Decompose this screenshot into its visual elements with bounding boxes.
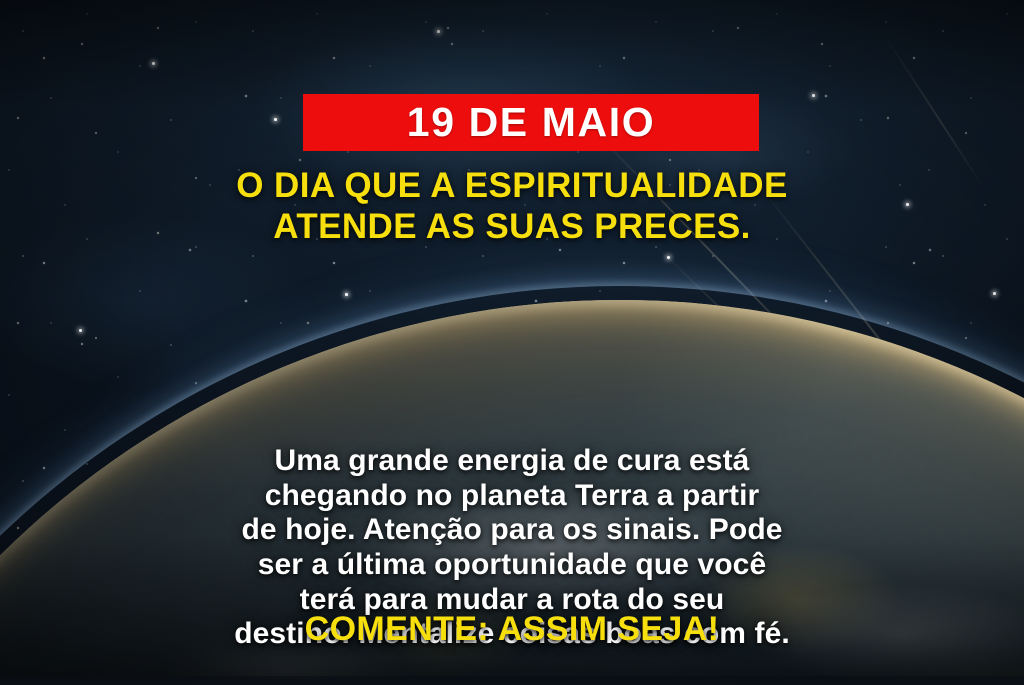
date-banner: 19 DE MAIO [303, 94, 759, 151]
call-to-action-text: COMENTE: ASSIM SEJA! [0, 611, 1024, 648]
headline: O DIA QUE A ESPIRITUALIDADE ATENDE AS SU… [0, 166, 1024, 248]
date-banner-label: 19 DE MAIO [407, 102, 655, 143]
poster-content: 19 DE MAIO O DIA QUE A ESPIRITUALIDADE A… [0, 0, 1024, 685]
headline-line-1: O DIA QUE A ESPIRITUALIDADE [0, 166, 1024, 207]
body-line-3: de hoje. Atenção para os sinais. Pode [0, 513, 1024, 548]
body-line-2: chegando no planeta Terra a partir [0, 479, 1024, 514]
headline-line-2: ATENDE AS SUAS PRECES. [0, 207, 1024, 248]
body-line-4: ser a última oportunidade que você [0, 548, 1024, 583]
body-line-1: Uma grande energia de cura está [0, 444, 1024, 479]
poster-canvas: 19 DE MAIO O DIA QUE A ESPIRITUALIDADE A… [0, 0, 1024, 685]
